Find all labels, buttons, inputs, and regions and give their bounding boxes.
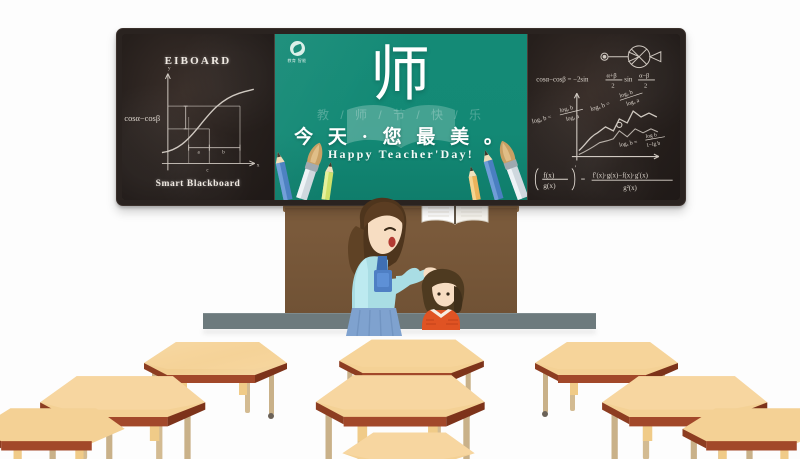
smart-blackboard-caption: Smart Blackboard [122, 179, 274, 189]
svg-text:α+β: α+β [606, 72, 616, 79]
svg-text:f′(x)·g(x)−f(x)·g′(x): f′(x)·g(x)−f(x)·g′(x) [593, 172, 648, 179]
right-chalk-panel: cosα−cosβ = −2sin α+β 2 sin α−β 2 [527, 34, 680, 200]
svg-text:c: c [206, 168, 209, 173]
svg-text:′: ′ [575, 165, 577, 172]
desk-row0-center[interactable] [330, 430, 485, 459]
svg-text:f(x): f(x) [543, 170, 555, 179]
desk-row0-left[interactable] [0, 404, 135, 459]
smart-blackboard[interactable]: EIBOARD [116, 28, 686, 206]
svg-text:a: a [198, 151, 201, 156]
svg-text:g²(x): g²(x) [623, 185, 637, 192]
svg-text:logₐ a: logₐ a [565, 114, 580, 123]
svg-text:logₐ a: logₐ a [626, 98, 641, 108]
svg-text:2: 2 [644, 82, 647, 89]
art-supplies-right-icon [463, 138, 527, 200]
svg-text:logₐ b =: logₐ b = [590, 100, 612, 113]
smart-blackboard-inner: EIBOARD [122, 34, 680, 200]
svg-text:logₐ b: logₐ b [559, 105, 574, 114]
right-panel-formulas: cosα−cosβ = −2sin α+β 2 sin α−β 2 [528, 34, 680, 200]
svg-text:y: y [168, 66, 171, 72]
svg-text:2: 2 [611, 82, 614, 89]
student-figure [414, 268, 472, 330]
svg-text:x: x [257, 162, 260, 168]
svg-text:logₐ b =: logₐ b = [619, 139, 639, 148]
ghost-headline: 教 / 师 / 节 / 快 / 乐 [275, 106, 527, 123]
svg-text:b: b [222, 151, 225, 156]
svg-text:1−lg b: 1−lg b [646, 141, 661, 149]
svg-text:cosα−cosβ = −2sin: cosα−cosβ = −2sin [536, 76, 589, 83]
left-panel-graph: y x a b c cosα−cosβ [122, 34, 274, 200]
hero-character: 师 [275, 44, 527, 106]
classroom-scene: EIBOARD [0, 0, 800, 459]
desk-row0-right[interactable] [665, 404, 800, 459]
art-supplies-left-icon [275, 138, 339, 200]
svg-text:g(x): g(x) [543, 181, 556, 190]
left-chalk-panel: EIBOARD [122, 34, 275, 200]
svg-text:α−β: α−β [639, 72, 649, 79]
svg-text:cosα−cosβ: cosα−cosβ [124, 114, 160, 123]
svg-text:=: = [581, 175, 586, 184]
svg-text:logₐ b =: logₐ b = [531, 114, 552, 126]
display-screen[interactable]: 教育 智能 师 教 / 师 / 节 / 快 / 乐 今 天 · 您 最 美 。 … [275, 34, 527, 200]
svg-text:sin: sin [624, 76, 633, 83]
